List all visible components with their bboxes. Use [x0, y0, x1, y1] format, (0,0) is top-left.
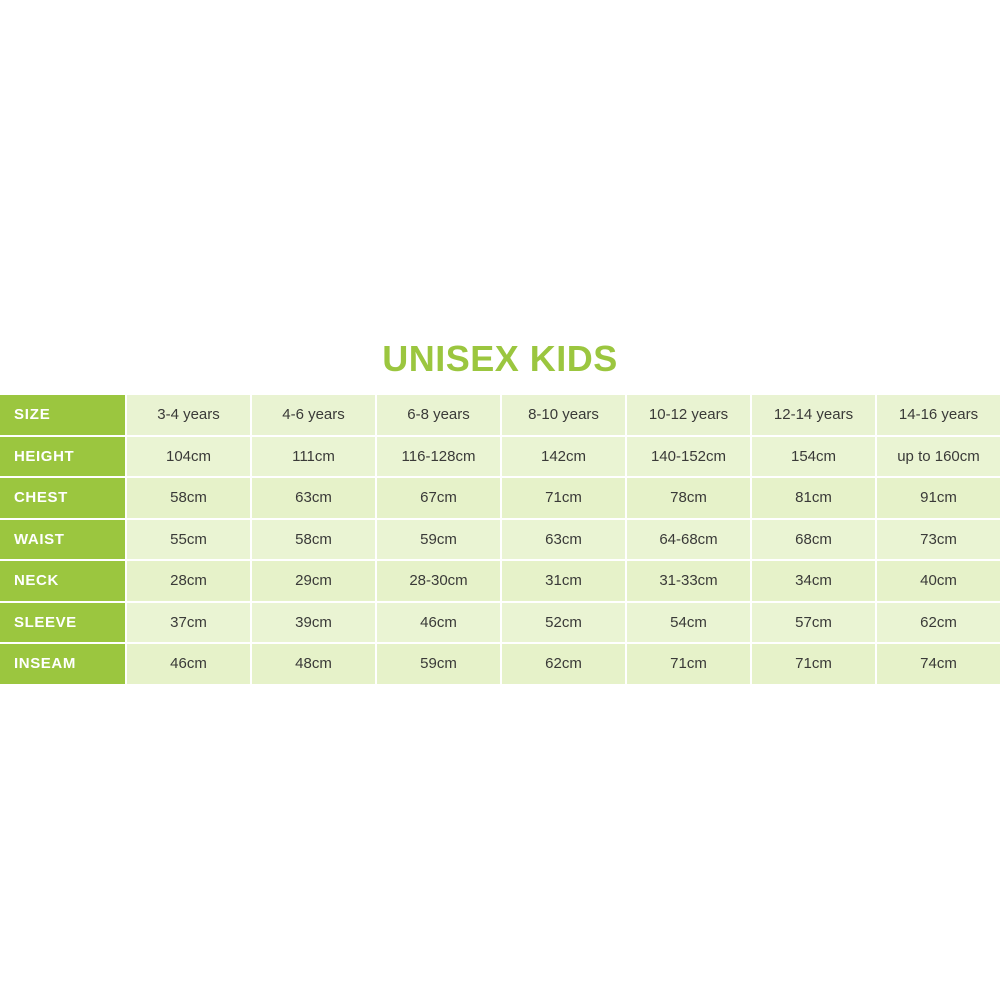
cell-sleeve-2: 46cm: [375, 603, 500, 645]
table-row: HEIGHT 104cm 111cm 116-128cm 142cm 140-1…: [0, 437, 1000, 479]
cell-neck-4: 31-33cm: [625, 561, 750, 603]
cell-neck-6: 40cm: [875, 561, 1000, 603]
column-header-4: 10-12 years: [625, 395, 750, 437]
table-header-row: SIZE 3-4 years 4-6 years 6-8 years 8-10 …: [0, 395, 1000, 437]
cell-inseam-3: 62cm: [500, 644, 625, 684]
size-chart-table: SIZE 3-4 years 4-6 years 6-8 years 8-10 …: [0, 395, 1000, 684]
cell-inseam-0: 46cm: [125, 644, 250, 684]
cell-waist-2: 59cm: [375, 520, 500, 562]
cell-neck-3: 31cm: [500, 561, 625, 603]
cell-inseam-5: 71cm: [750, 644, 875, 684]
cell-height-0: 104cm: [125, 437, 250, 479]
cell-height-4: 140-152cm: [625, 437, 750, 479]
cell-chest-6: 91cm: [875, 478, 1000, 520]
row-label-inseam: INSEAM: [0, 644, 125, 684]
table-row: SLEEVE 37cm 39cm 46cm 52cm 54cm 57cm 62c…: [0, 603, 1000, 645]
cell-sleeve-6: 62cm: [875, 603, 1000, 645]
cell-sleeve-3: 52cm: [500, 603, 625, 645]
size-chart-page: UNISEX KIDS SIZE 3-4 years 4-6 years 6-8…: [0, 0, 1000, 1000]
column-header-1: 4-6 years: [250, 395, 375, 437]
row-label-height: HEIGHT: [0, 437, 125, 479]
cell-sleeve-1: 39cm: [250, 603, 375, 645]
cell-waist-6: 73cm: [875, 520, 1000, 562]
cell-height-1: 111cm: [250, 437, 375, 479]
cell-chest-0: 58cm: [125, 478, 250, 520]
cell-waist-4: 64-68cm: [625, 520, 750, 562]
header-label-size: SIZE: [0, 395, 125, 437]
cell-height-6: up to 160cm: [875, 437, 1000, 479]
table-row: CHEST 58cm 63cm 67cm 71cm 78cm 81cm 91cm: [0, 478, 1000, 520]
cell-inseam-1: 48cm: [250, 644, 375, 684]
cell-neck-1: 29cm: [250, 561, 375, 603]
cell-height-2: 116-128cm: [375, 437, 500, 479]
row-label-waist: WAIST: [0, 520, 125, 562]
table-body: HEIGHT 104cm 111cm 116-128cm 142cm 140-1…: [0, 437, 1000, 684]
cell-sleeve-5: 57cm: [750, 603, 875, 645]
cell-inseam-4: 71cm: [625, 644, 750, 684]
cell-chest-1: 63cm: [250, 478, 375, 520]
size-chart-table-wrapper: SIZE 3-4 years 4-6 years 6-8 years 8-10 …: [0, 395, 1000, 684]
cell-sleeve-4: 54cm: [625, 603, 750, 645]
cell-chest-4: 78cm: [625, 478, 750, 520]
row-label-chest: CHEST: [0, 478, 125, 520]
cell-waist-1: 58cm: [250, 520, 375, 562]
table-header: SIZE 3-4 years 4-6 years 6-8 years 8-10 …: [0, 395, 1000, 437]
cell-neck-0: 28cm: [125, 561, 250, 603]
row-label-sleeve: SLEEVE: [0, 603, 125, 645]
cell-sleeve-0: 37cm: [125, 603, 250, 645]
cell-chest-3: 71cm: [500, 478, 625, 520]
column-header-6: 14-16 years: [875, 395, 1000, 437]
cell-chest-2: 67cm: [375, 478, 500, 520]
cell-waist-0: 55cm: [125, 520, 250, 562]
column-header-2: 6-8 years: [375, 395, 500, 437]
row-label-neck: NECK: [0, 561, 125, 603]
cell-inseam-6: 74cm: [875, 644, 1000, 684]
cell-neck-5: 34cm: [750, 561, 875, 603]
table-row: INSEAM 46cm 48cm 59cm 62cm 71cm 71cm 74c…: [0, 644, 1000, 684]
table-row: WAIST 55cm 58cm 59cm 63cm 64-68cm 68cm 7…: [0, 520, 1000, 562]
column-header-3: 8-10 years: [500, 395, 625, 437]
cell-height-3: 142cm: [500, 437, 625, 479]
page-title: UNISEX KIDS: [0, 336, 1000, 382]
table-row: NECK 28cm 29cm 28-30cm 31cm 31-33cm 34cm…: [0, 561, 1000, 603]
cell-neck-2: 28-30cm: [375, 561, 500, 603]
cell-height-5: 154cm: [750, 437, 875, 479]
column-header-5: 12-14 years: [750, 395, 875, 437]
cell-waist-3: 63cm: [500, 520, 625, 562]
cell-inseam-2: 59cm: [375, 644, 500, 684]
cell-chest-5: 81cm: [750, 478, 875, 520]
column-header-0: 3-4 years: [125, 395, 250, 437]
cell-waist-5: 68cm: [750, 520, 875, 562]
